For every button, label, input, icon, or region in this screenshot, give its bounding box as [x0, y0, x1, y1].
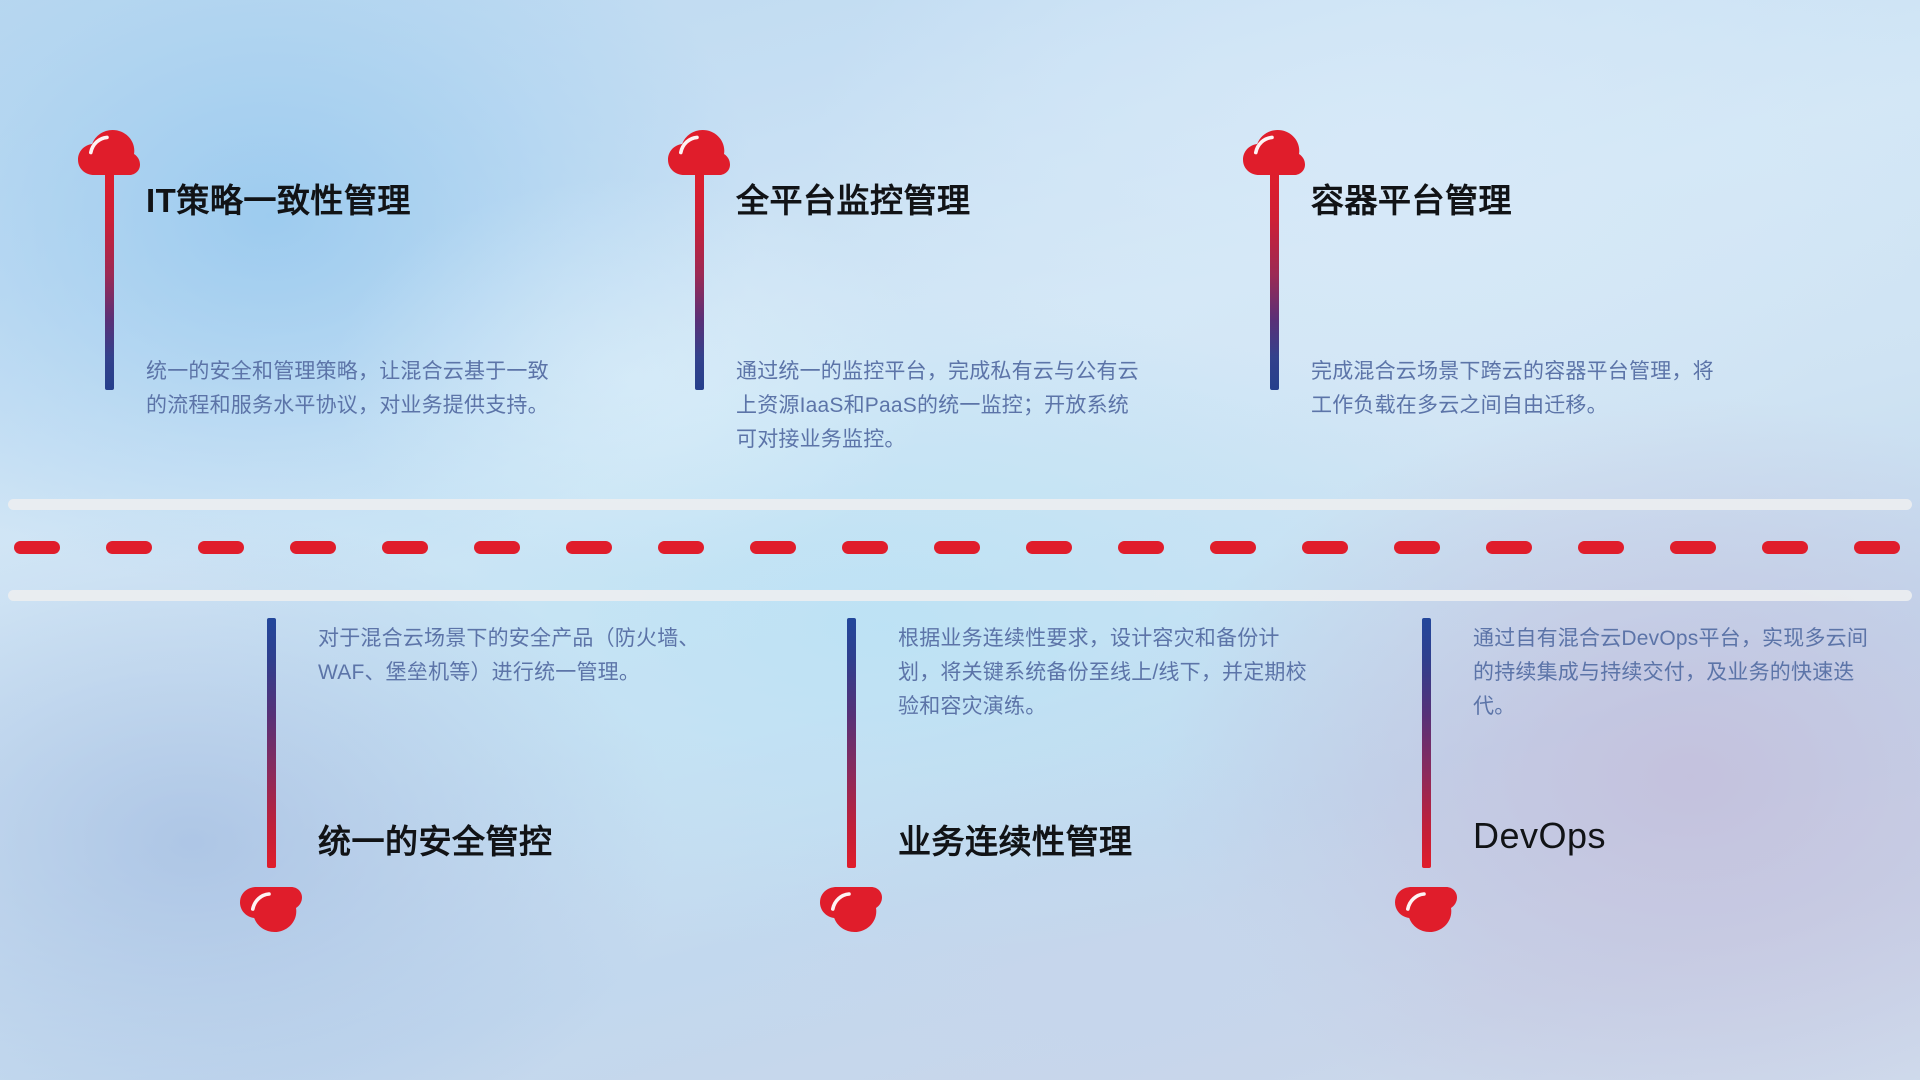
- dash-segment: [1026, 541, 1072, 554]
- dash-segment: [750, 541, 796, 554]
- dash-segment: [1486, 541, 1532, 554]
- dash-segment: [198, 541, 244, 554]
- card-body: 完成混合云场景下跨云的容器平台管理，将工作负载在多云之间自由迁移。: [1311, 355, 1721, 423]
- cloud-icon: [820, 886, 882, 932]
- dash-segment: [658, 541, 704, 554]
- card-body: 对于混合云场景下的安全产品（防火墙、WAF、堡垒机等）进行统一管理。: [318, 622, 728, 690]
- connector-stem: [695, 170, 704, 390]
- infographic-canvas: IT策略一致性管理 统一的安全和管理策略，让混合云基于一致的流程和服务水平协议，…: [0, 0, 1920, 1080]
- connector-stem: [1422, 618, 1431, 868]
- dash-segment: [106, 541, 152, 554]
- dash-segment: [1762, 541, 1808, 554]
- cloud-icon: [1395, 886, 1457, 932]
- connector-stem: [105, 170, 114, 390]
- card-title: 容器平台管理: [1311, 174, 1512, 222]
- cloud-icon: [240, 886, 302, 932]
- separator-rail-bottom: [8, 590, 1912, 601]
- card-body: 根据业务连续性要求，设计容灾和备份计划，将关键系统备份至线上/线下，并定期校验和…: [898, 622, 1308, 724]
- dash-segment: [474, 541, 520, 554]
- card-body: 通过自有混合云DevOps平台，实现多云间的持续集成与持续交付，及业务的快速迭代…: [1473, 622, 1883, 724]
- card-title: 业务连续性管理: [898, 815, 1133, 863]
- dash-segment: [566, 541, 612, 554]
- card-title: IT策略一致性管理: [146, 174, 411, 222]
- dash-segment: [1210, 541, 1256, 554]
- connector-stem: [267, 618, 276, 868]
- dashed-separator: [0, 490, 1920, 600]
- card-title: 全平台监控管理: [736, 174, 971, 222]
- dash-segment: [14, 541, 60, 554]
- dash-segment: [382, 541, 428, 554]
- separator-rail-top: [8, 499, 1912, 510]
- card-title: DevOps: [1473, 815, 1606, 857]
- connector-stem: [1270, 170, 1279, 390]
- dash-segment: [290, 541, 336, 554]
- dash-segment: [1670, 541, 1716, 554]
- card-body: 通过统一的监控平台，完成私有云与公有云上资源IaaS和PaaS的统一监控；开放系…: [736, 355, 1146, 457]
- dash-segment: [1302, 541, 1348, 554]
- dash-segment: [934, 541, 980, 554]
- dash-segment: [842, 541, 888, 554]
- dash-segment: [1578, 541, 1624, 554]
- card-title: 统一的安全管控: [318, 815, 553, 863]
- dash-segment: [1854, 541, 1900, 554]
- connector-stem: [847, 618, 856, 868]
- separator-dashes: [0, 541, 1920, 554]
- dash-segment: [1394, 541, 1440, 554]
- card-body: 统一的安全和管理策略，让混合云基于一致的流程和服务水平协议，对业务提供支持。: [146, 355, 556, 423]
- dash-segment: [1118, 541, 1164, 554]
